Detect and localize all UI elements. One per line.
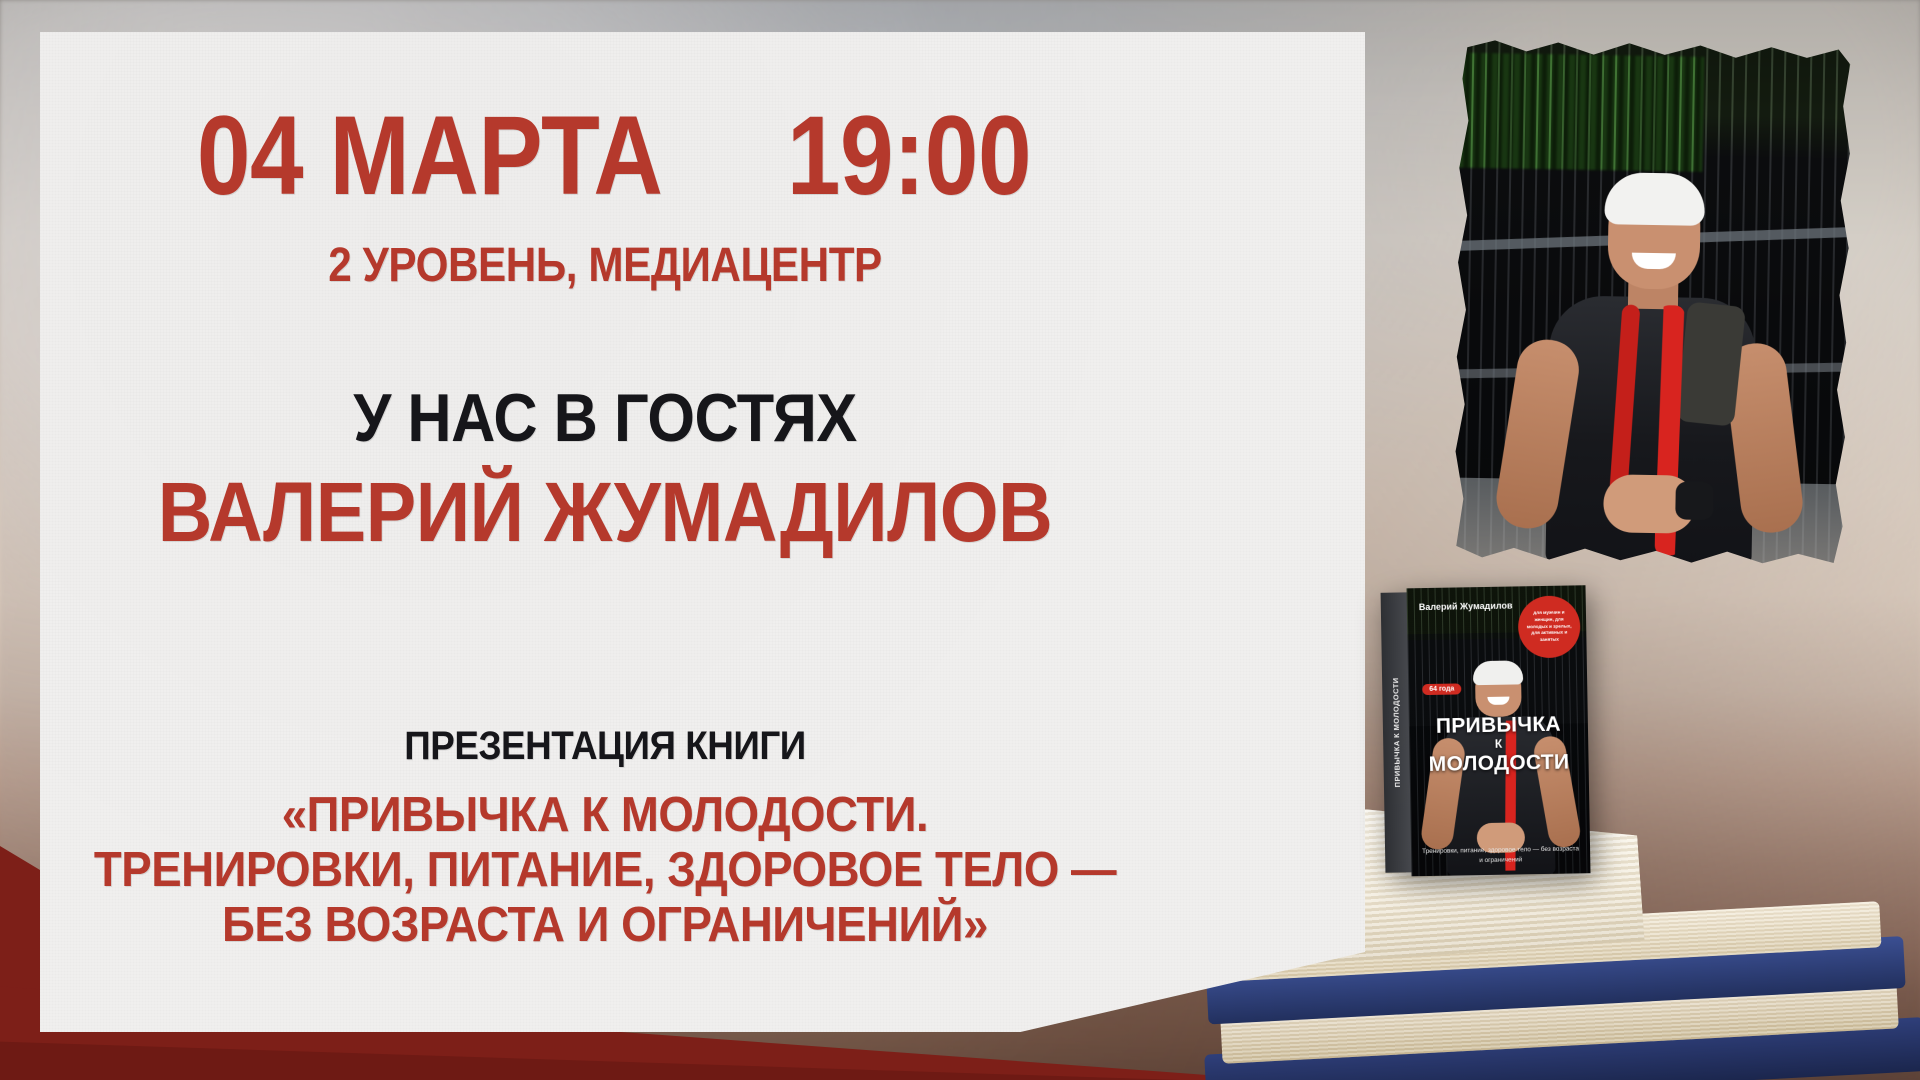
book-title-line-3: БЕЗ ВОЗРАСТА И ОГРАНИЧЕНИЙ»	[80, 898, 1131, 953]
book-title-line-2: ТРЕНИРОВКИ, ПИТАНИЕ, ЗДОРОВОЕ ТЕЛО —	[80, 843, 1131, 898]
event-time: 19:00	[787, 100, 1031, 212]
book-spine-text: ПРИВЫЧКА К МОЛОДОСТИ	[1391, 678, 1402, 788]
book-cover-author: Валерий Жумадилов	[1419, 601, 1513, 614]
book-cover-hair	[1472, 660, 1522, 685]
event-poster: ПРИВЫЧКА К МОЛОДОСТИ Валерий Жумадилов д…	[0, 0, 1920, 1080]
book-front-cover: Валерий Жумадилов для мужчин и женщин, д…	[1406, 585, 1590, 876]
event-date: 04 МАРТА	[197, 100, 663, 212]
book-cover-title: ПРИВЫЧКА К МОЛОДОСТИ	[1409, 713, 1589, 775]
book-cover-age-badge: 64 года	[1422, 683, 1461, 695]
book-cover: ПРИВЫЧКА К МОЛОДОСТИ Валерий Жумадилов д…	[1381, 585, 1591, 877]
speaker-photo	[1450, 37, 1854, 569]
photo-backpack	[1675, 301, 1745, 426]
guest-label: У НАС В ГОСТЯХ	[97, 384, 1114, 452]
book-title-block: «ПРИВЫЧКА К МОЛОДОСТИ. ТРЕНИРОВКИ, ПИТАН…	[40, 788, 1170, 953]
event-venue: 2 УРОВЕНЬ, МЕДИАЦЕНТР	[108, 242, 1102, 290]
guest-name: ВАЛЕРИЙ ЖУМАДИЛОВ	[97, 470, 1114, 554]
photo-wristwatch	[1675, 481, 1714, 520]
photo-person	[1498, 142, 1805, 567]
announcement-card: 04 МАРТА 19:00 2 УРОВЕНЬ, МЕДИАЦЕНТР У Н…	[40, 32, 1365, 1032]
book-cover-title-line3: МОЛОДОСТИ	[1409, 751, 1588, 775]
book-title-line-1: «ПРИВЫЧКА К МОЛОДОСТИ.	[80, 788, 1131, 843]
date-time-row: 04 МАРТА 19:00	[40, 100, 1170, 212]
presentation-label: ПРЕЗЕНТАЦИЯ КНИГИ	[85, 726, 1125, 766]
photo-hair	[1604, 172, 1705, 226]
book-cover-subtitle: Тренировки, питание, здоровое тело — без…	[1421, 845, 1580, 866]
